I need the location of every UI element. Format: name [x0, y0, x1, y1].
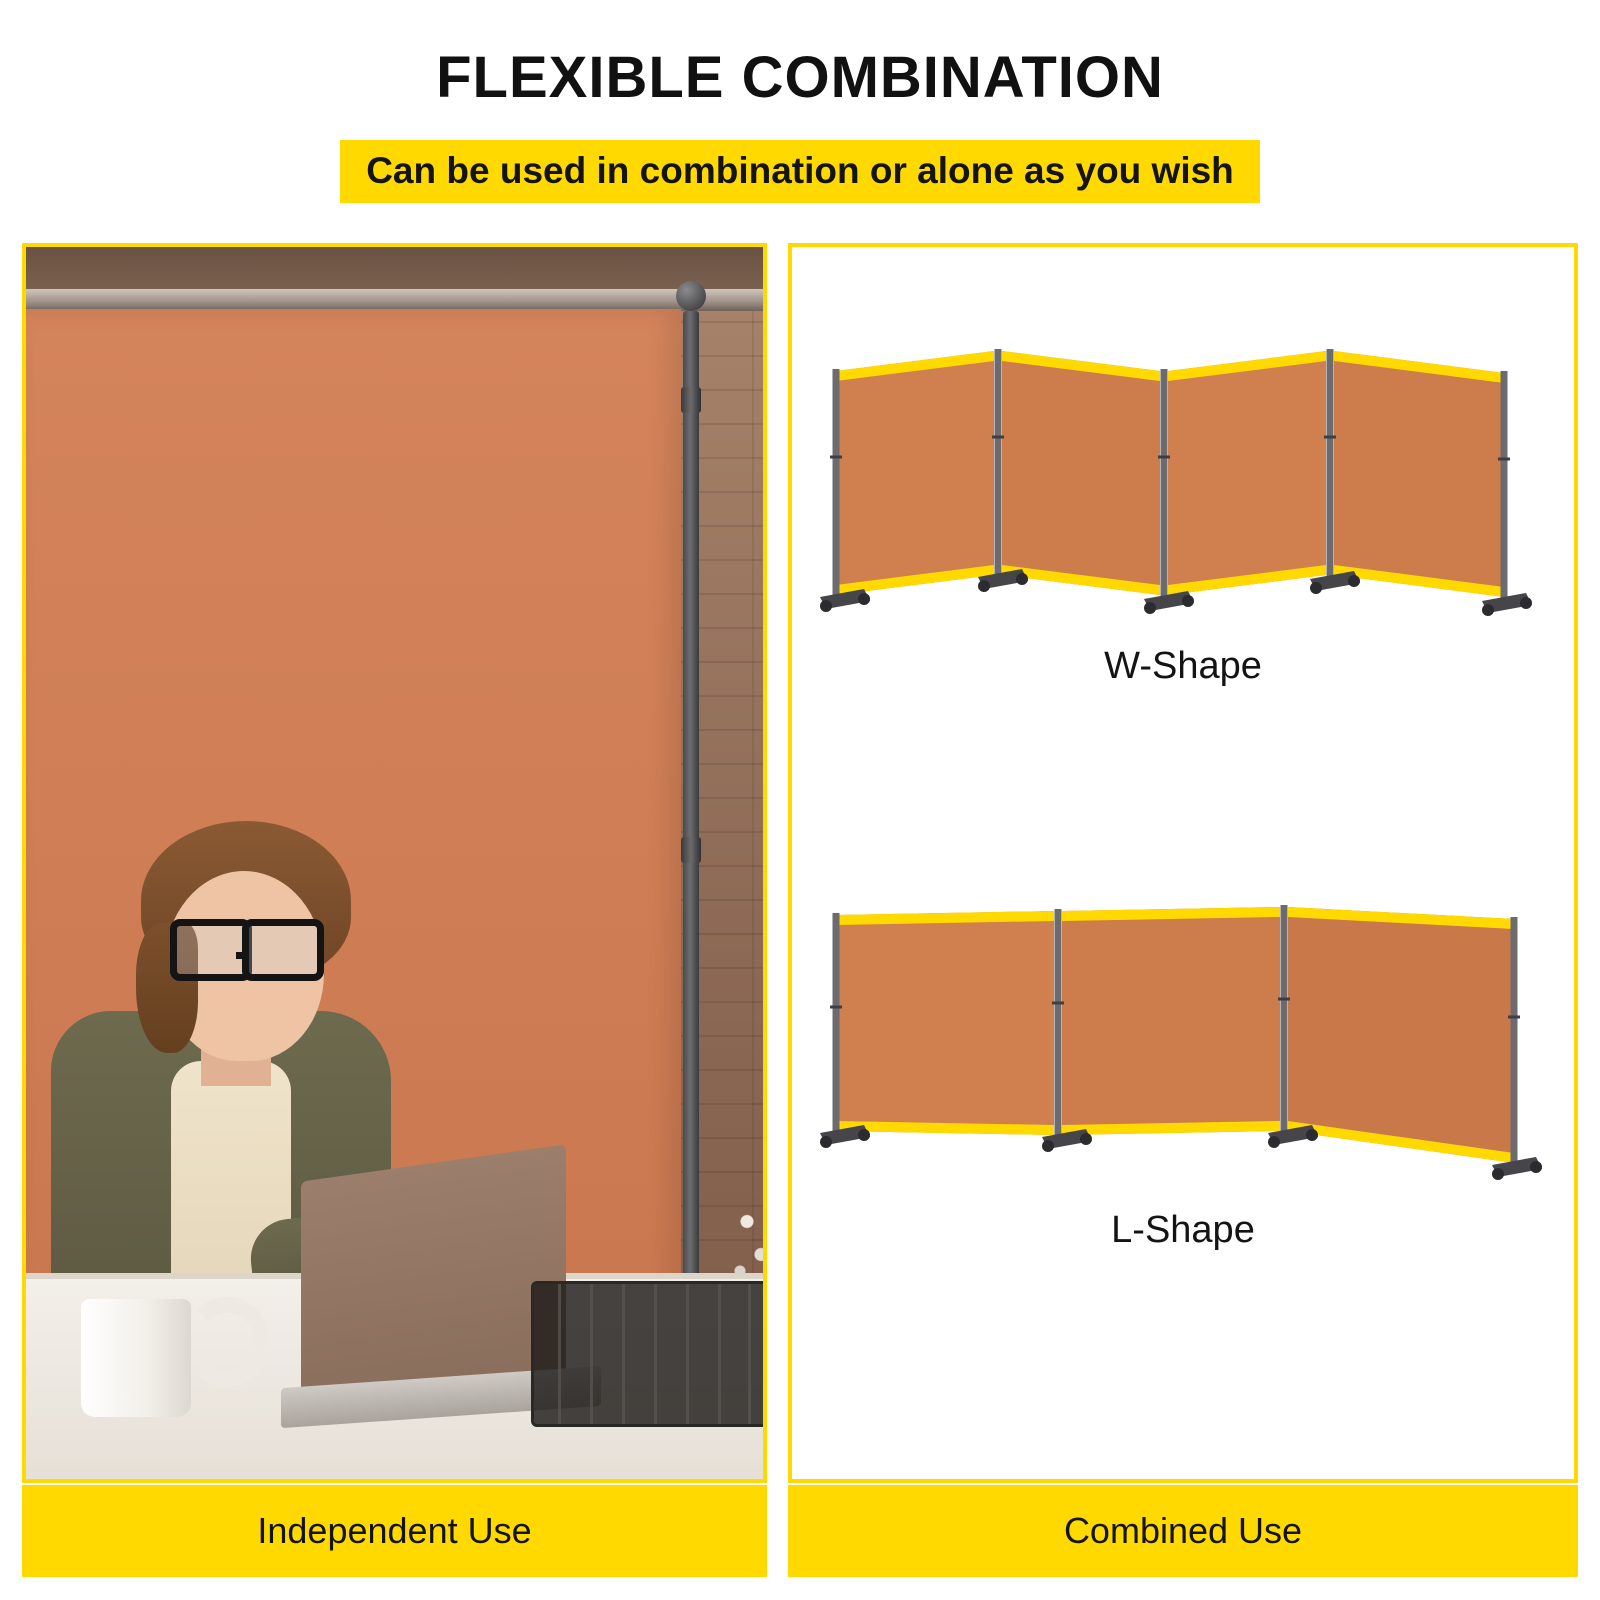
subtitle-banner: Can be used in combination or alone as y…: [340, 140, 1260, 203]
w-shape-diagram: [814, 307, 1560, 637]
divider-pole: [683, 311, 699, 1361]
coffee-mug: [81, 1299, 191, 1417]
independent-use-panel: [22, 243, 767, 1483]
pole-joint-upper: [681, 387, 701, 413]
subtitle-container: Can be used in combination or alone as y…: [0, 140, 1600, 203]
pole-cap-icon: [676, 281, 706, 311]
page-title: FLEXIBLE COMBINATION: [0, 44, 1600, 111]
ceiling-band: [26, 247, 763, 293]
coffee-mug-handle: [184, 1297, 270, 1387]
l-shape-diagram: [814, 867, 1560, 1197]
glasses-bridge: [236, 952, 246, 959]
wire-basket: [531, 1281, 763, 1427]
laptop-screen: [301, 1144, 566, 1409]
infographic-page: FLEXIBLE COMBINATION Can be used in comb…: [0, 0, 1600, 1600]
w-shape-label: W-Shape: [792, 645, 1574, 688]
glasses-right-lens: [242, 919, 324, 981]
ceiling-rail: [26, 289, 763, 311]
caption-independent-use: Independent Use: [22, 1485, 767, 1577]
l-shape-label: L-Shape: [792, 1209, 1574, 1252]
combined-use-panel: W-Shape: [788, 243, 1578, 1483]
glasses-left-lens: [170, 919, 252, 981]
pole-joint-lower: [681, 837, 701, 863]
office-scene-photo: [26, 247, 763, 1479]
caption-combined-use: Combined Use: [788, 1485, 1578, 1577]
